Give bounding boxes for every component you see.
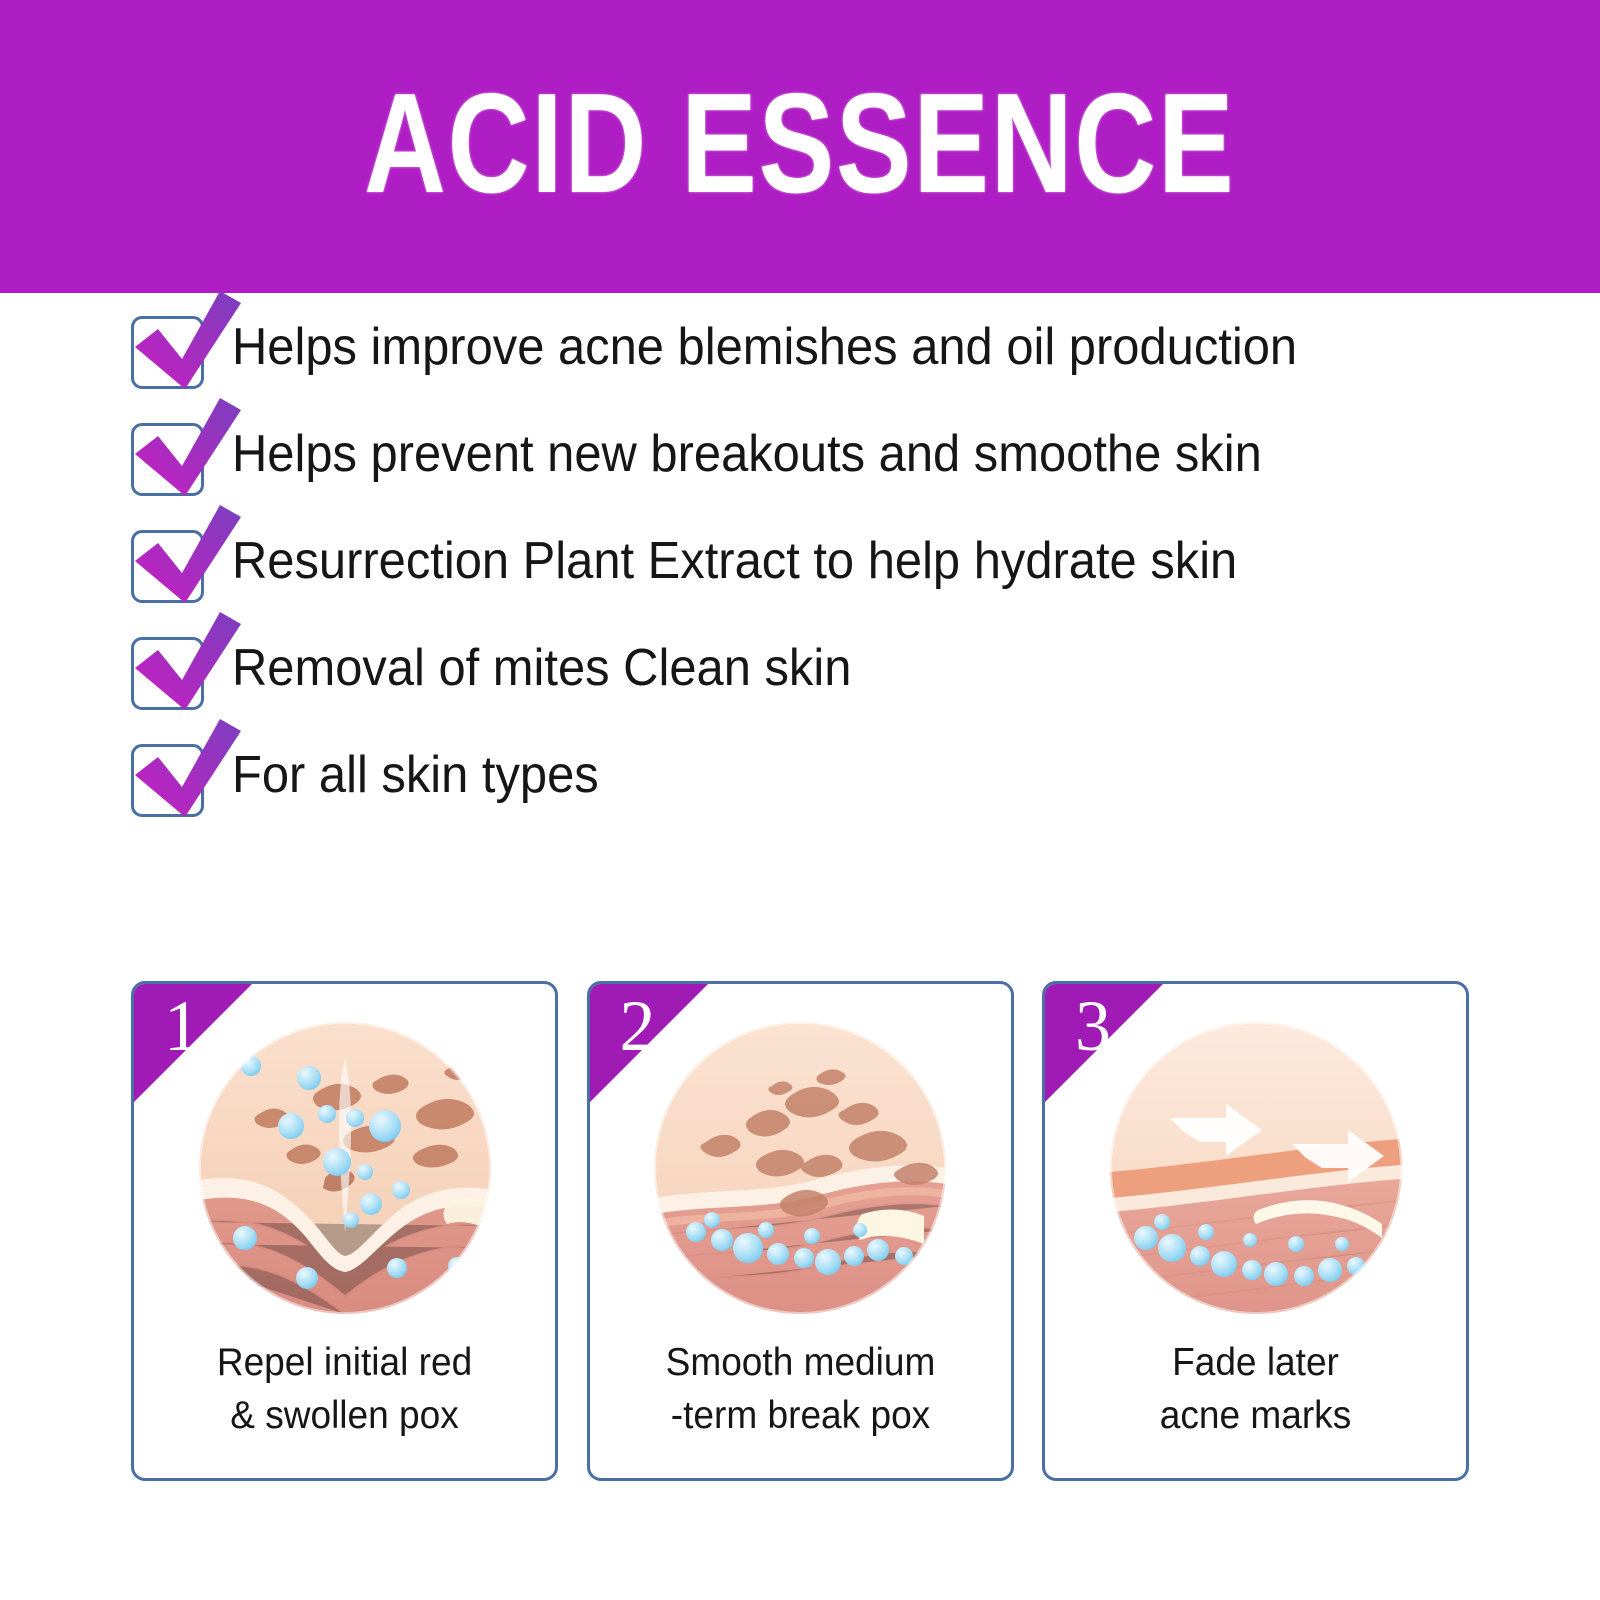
card-number: 2 [620, 990, 656, 1062]
card-caption: Fade later acne marks [1056, 1336, 1456, 1442]
checkbox-square [131, 530, 204, 603]
checkbox-1 [131, 309, 206, 384]
feature-item: Resurrection Plant Extract to help hydra… [0, 507, 1600, 614]
feature-label: Helps prevent new breakouts and smoothe … [232, 428, 1262, 480]
feature-label: Removal of mites Clean skin [232, 642, 851, 694]
card-number: 1 [164, 990, 200, 1062]
checkbox-square [131, 744, 204, 817]
step-card-1: 1 Repel initial red & swollen pox [131, 981, 558, 1481]
card-caption: Repel initial red & swollen pox [145, 1336, 545, 1442]
checkbox-2 [131, 416, 206, 491]
caption-line-2: -term break pox [600, 1389, 1000, 1442]
feature-item: For all skin types [0, 721, 1600, 828]
caption-line-2: acne marks [1056, 1389, 1456, 1442]
checkbox-5 [131, 737, 206, 812]
feature-label: Resurrection Plant Extract to help hydra… [232, 535, 1237, 587]
caption-line-1: Repel initial red [145, 1336, 545, 1389]
step-card-3: 3 Fade later acne marks [1042, 981, 1469, 1481]
feature-list: Helps improve acne blemishes and oil pro… [0, 293, 1600, 828]
caption-line-2: & swollen pox [145, 1389, 545, 1442]
feature-label: Helps improve acne blemishes and oil pro… [232, 321, 1297, 373]
feature-item: Helps improve acne blemishes and oil pro… [0, 293, 1600, 400]
caption-line-1: Fade later [1056, 1336, 1456, 1389]
checkbox-4 [131, 630, 206, 705]
infographic-page: ACID ESSENCE Helps improve acne blemishe… [0, 0, 1600, 1600]
page-title: ACID ESSENCE [364, 73, 1235, 221]
card-number: 3 [1075, 990, 1111, 1062]
card-caption: Smooth medium -term break pox [600, 1336, 1000, 1442]
feature-item: Removal of mites Clean skin [0, 614, 1600, 721]
caption-line-1: Smooth medium [600, 1336, 1000, 1389]
feature-item: Helps prevent new breakouts and smoothe … [0, 400, 1600, 507]
checkbox-square [131, 637, 204, 710]
checkbox-3 [131, 523, 206, 598]
checkbox-square [131, 423, 204, 496]
step-card-list: 1 Repel initial red & swollen pox [131, 981, 1469, 1481]
header-banner: ACID ESSENCE [0, 0, 1600, 293]
feature-label: For all skin types [232, 749, 599, 801]
step-card-2: 2 Smooth medium -term break pox [587, 981, 1014, 1481]
checkbox-square [131, 316, 204, 389]
